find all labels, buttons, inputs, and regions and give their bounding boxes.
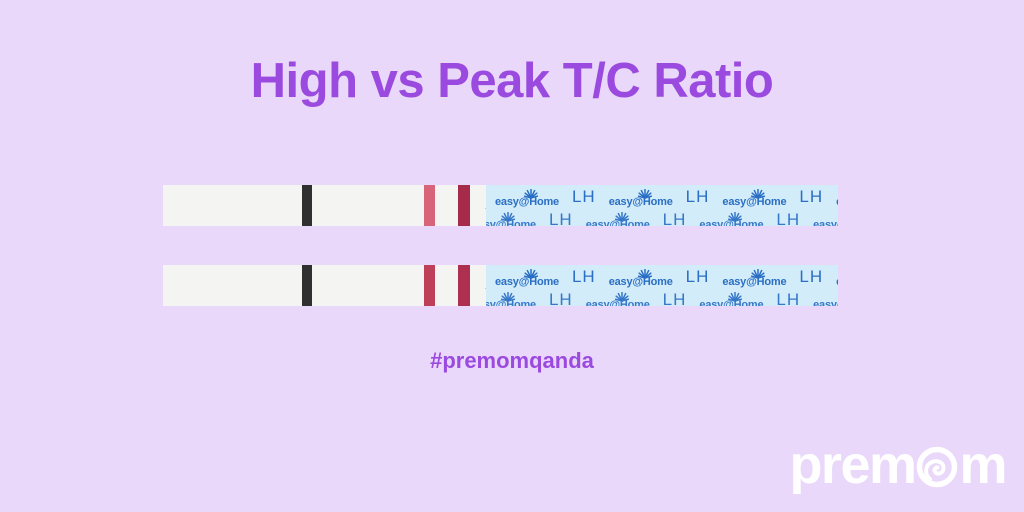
easyhome-brand-label: easy@Home bbox=[609, 196, 686, 208]
brand-row-bottom: easy@HomeLHeasy@HomeLHeasy@HomeLHeasy@Ho… bbox=[486, 293, 838, 306]
lh-label: LH bbox=[549, 210, 586, 226]
easyhome-brand-label: easy@Home bbox=[699, 299, 776, 306]
lh-label: LH bbox=[572, 267, 609, 287]
brand-unit: easy@HomeLH bbox=[609, 190, 723, 210]
logo-text-after: m bbox=[959, 438, 1006, 492]
lh-label: LH bbox=[776, 210, 813, 226]
brand-unit: easy@HomeLH bbox=[586, 293, 700, 306]
brand-unit: easy@HomeLH bbox=[486, 293, 586, 306]
easyhome-brand-label: easy@Home bbox=[586, 299, 663, 306]
poster-canvas: High vs Peak T/C Ratio MAX ←MAX MAX easy… bbox=[0, 0, 1024, 512]
sunburst-icon bbox=[751, 269, 765, 279]
sunburst-icon bbox=[524, 269, 538, 279]
sunburst-icon bbox=[638, 269, 652, 279]
max-indicator-bar bbox=[302, 185, 312, 226]
brand-unit: easy@HomeLH bbox=[699, 293, 813, 306]
control-line bbox=[458, 185, 470, 226]
lh-label: LH bbox=[686, 187, 723, 207]
sunburst-icon bbox=[751, 189, 765, 199]
lh-label: LH bbox=[799, 267, 836, 287]
sunburst-icon bbox=[638, 189, 652, 199]
brand-unit: easy@HomeLH bbox=[699, 213, 813, 226]
brand-unit: easy@HomeLH bbox=[495, 190, 609, 210]
lh-label: LH bbox=[549, 290, 586, 306]
sunburst-icon bbox=[615, 292, 629, 302]
brand-row-top: easy@HomeLHeasy@HomeLHeasy@HomeLHeasy@Ho… bbox=[495, 190, 838, 210]
brand-unit: easy@HomeLH bbox=[722, 190, 836, 210]
max-indicator-bar bbox=[302, 265, 312, 306]
sunburst-icon bbox=[501, 292, 515, 302]
brand-unit: easy@HomeLH bbox=[495, 270, 609, 290]
easyhome-brand-label: easy@Home bbox=[586, 219, 663, 226]
easyhome-brand-label: easy@Home bbox=[495, 196, 572, 208]
hashtag-text: #premomqanda bbox=[0, 348, 1024, 374]
sunburst-icon bbox=[501, 212, 515, 222]
high-ratio-test-strip: MAX ←MAX MAX easy@HomeLHeasy@HomeLHeasy@… bbox=[163, 185, 838, 226]
easyhome-brand-label: easy@Home bbox=[722, 196, 799, 208]
brand-unit: easy@HomeLH bbox=[609, 270, 723, 290]
sunburst-icon bbox=[524, 189, 538, 199]
peak-ratio-test-strip: MAX ←MAX MAX easy@HomeLHeasy@HomeLHeasy@… bbox=[163, 265, 838, 306]
easyhome-brand-label: easy@Home bbox=[609, 276, 686, 288]
page-title: High vs Peak T/C Ratio bbox=[0, 53, 1024, 109]
sunburst-icon bbox=[728, 212, 742, 222]
easyhome-brand-label: easy@Home bbox=[699, 219, 776, 226]
test-line bbox=[424, 265, 435, 306]
lh-label: LH bbox=[799, 187, 836, 207]
lh-label: LH bbox=[663, 290, 700, 306]
lh-label: LH bbox=[572, 187, 609, 207]
brand-unit: easy@HomeLH bbox=[586, 213, 700, 226]
premom-logo: prem m bbox=[789, 436, 1006, 494]
easyhome-brand-label: easy@Home bbox=[486, 299, 549, 306]
brand-row-top: easy@HomeLHeasy@HomeLHeasy@HomeLHeasy@Ho… bbox=[495, 270, 838, 290]
easyhome-brand-label: easy@Home bbox=[836, 196, 838, 208]
brand-unit: easy@HomeLH bbox=[836, 270, 838, 290]
test-line bbox=[424, 185, 435, 226]
sunburst-icon bbox=[615, 212, 629, 222]
easyhome-brand-label: easy@Home bbox=[813, 299, 838, 306]
brand-region: easy@HomeLHeasy@HomeLHeasy@HomeLHeasy@Ho… bbox=[486, 185, 838, 226]
easyhome-brand-label: easy@Home bbox=[495, 276, 572, 288]
easyhome-brand-label: easy@Home bbox=[813, 219, 838, 226]
brand-row-bottom: easy@HomeLHeasy@HomeLHeasy@HomeLHeasy@Ho… bbox=[486, 213, 838, 226]
brand-unit: easy@HomeLH bbox=[836, 190, 838, 210]
brand-unit: easy@HomeLH bbox=[722, 270, 836, 290]
brand-unit: easy@HomeLH bbox=[813, 293, 838, 306]
brand-unit: easy@HomeLH bbox=[813, 213, 838, 226]
brand-unit: easy@HomeLH bbox=[486, 213, 586, 226]
logo-text-before: prem bbox=[789, 438, 915, 492]
easyhome-brand-label: easy@Home bbox=[486, 219, 549, 226]
lh-label: LH bbox=[686, 267, 723, 287]
easyhome-brand-label: easy@Home bbox=[722, 276, 799, 288]
lh-label: LH bbox=[776, 290, 813, 306]
control-line bbox=[458, 265, 470, 306]
easyhome-brand-label: easy@Home bbox=[836, 276, 838, 288]
lh-label: LH bbox=[663, 210, 700, 226]
sunburst-icon bbox=[728, 292, 742, 302]
baby-in-circle-icon bbox=[916, 446, 958, 488]
brand-region: easy@HomeLHeasy@HomeLHeasy@HomeLHeasy@Ho… bbox=[486, 265, 838, 306]
